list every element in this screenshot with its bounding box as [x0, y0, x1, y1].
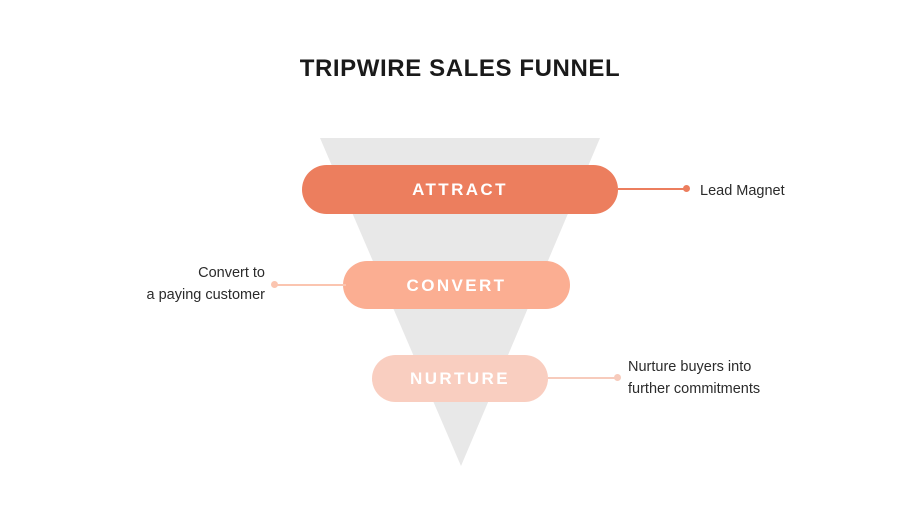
funnel-stage-nurture-label: NURTURE [410, 370, 510, 387]
callout-nurture: Nurture buyers into further commitments [628, 356, 760, 401]
funnel-stage-convert[interactable]: CONVERT [343, 261, 570, 309]
connector-dot-nurture [614, 374, 621, 381]
callout-convert: Convert to a paying customer [147, 262, 265, 307]
connector-dot-attract [683, 185, 690, 192]
funnel-stage-attract[interactable]: ATTRACT [302, 165, 618, 214]
callout-attract-line-1: Lead Magnet [700, 180, 785, 202]
funnel-stage-convert-label: CONVERT [407, 277, 507, 294]
funnel-stage-nurture[interactable]: NURTURE [372, 355, 548, 402]
callout-nurture-line-1: Nurture buyers into [628, 356, 760, 378]
connector-line-attract [618, 188, 684, 190]
funnel-diagram-canvas: TRIPWIRE SALES FUNNEL ATTRACT Lead Magne… [0, 0, 920, 518]
callout-convert-line-1: Convert to [147, 262, 265, 284]
callout-attract: Lead Magnet [700, 180, 785, 202]
connector-dot-convert [271, 281, 278, 288]
callout-convert-line-2: a paying customer [147, 284, 265, 306]
connector-line-convert [274, 284, 346, 286]
page-title: TRIPWIRE SALES FUNNEL [0, 55, 920, 83]
connector-line-nurture [548, 377, 617, 379]
callout-nurture-line-2: further commitments [628, 378, 760, 400]
funnel-stage-attract-label: ATTRACT [412, 181, 508, 198]
